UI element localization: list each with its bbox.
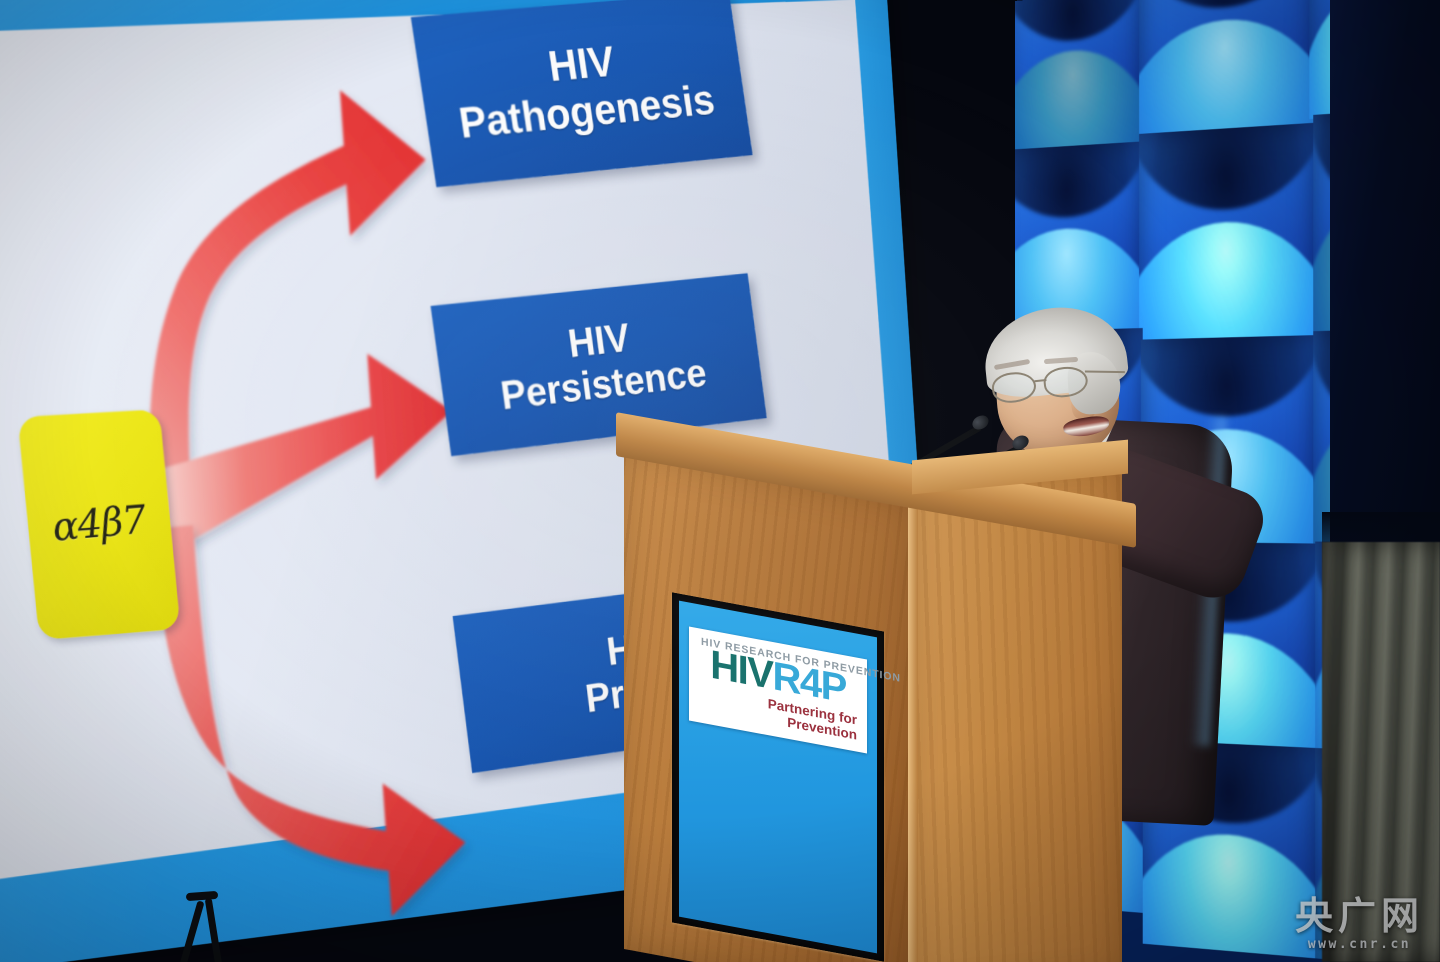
lectern-corner-edge bbox=[908, 466, 918, 962]
integrin-label: α4β7 bbox=[51, 498, 149, 551]
backdrop-panel bbox=[1015, 142, 1141, 336]
lectern-logo-backing: HIV RESEARCH FOR PREVENTION HIVR4P Partn… bbox=[679, 601, 877, 954]
arrow-down-to-prevention bbox=[154, 505, 470, 943]
backdrop-panel bbox=[1015, 0, 1141, 154]
lectern-logo-plaque: HIV RESEARCH FOR PREVENTION HIVR4P Partn… bbox=[672, 592, 884, 961]
photo-scene: α4β7 HIV Pathogenesis HIV Persistence H … bbox=[0, 0, 1440, 962]
backdrop-panel bbox=[1139, 123, 1315, 344]
slide-box-line2: Persistence bbox=[498, 352, 709, 419]
slide-box-line1: HIV bbox=[545, 38, 617, 91]
integrin-a4b7-node: α4β7 bbox=[17, 409, 180, 640]
lectern: HIV RESEARCH FOR PREVENTION HIVR4P Partn… bbox=[612, 452, 1232, 962]
slide-box-hiv-pathogenesis: HIV Pathogenesis bbox=[411, 0, 753, 187]
hivr4p-logo: HIV RESEARCH FOR PREVENTION HIVR4P Partn… bbox=[689, 627, 867, 754]
backdrop-panel bbox=[1139, 0, 1313, 138]
eyeglass-temple bbox=[1085, 370, 1125, 373]
stage-curtain bbox=[1322, 542, 1440, 962]
arrow-right-to-persistence bbox=[153, 349, 459, 555]
slide-box-line2: Pathogenesis bbox=[456, 76, 718, 147]
